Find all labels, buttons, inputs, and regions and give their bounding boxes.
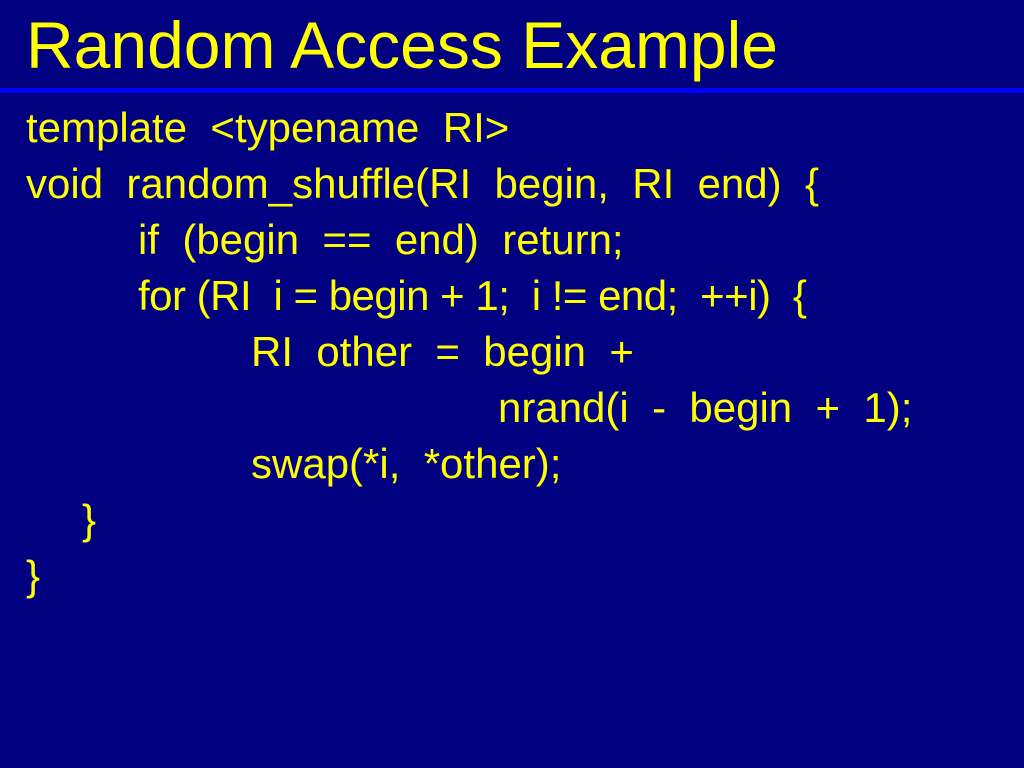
code-line: RI other = begin + (0, 324, 1024, 380)
code-line: template <typename RI> (0, 100, 1024, 156)
code-line: } (0, 548, 1024, 604)
page-title: Random Access Example (26, 6, 998, 84)
code-line: if (begin == end) return; (0, 212, 1024, 268)
code-line: for (RI i = begin + 1; i != end; ++i) { (0, 268, 1024, 324)
code-line: nrand(i - begin + 1); (0, 380, 1024, 436)
code-line: void random_shuffle(RI begin, RI end) { (0, 156, 1024, 212)
code-line: swap(*i, *other); (0, 436, 1024, 492)
title-divider (0, 88, 1024, 93)
code-block: template <typename RI> void random_shuff… (0, 100, 1024, 660)
code-line: } (0, 492, 1024, 548)
slide-canvas: Random Access Example template <typename… (0, 0, 1024, 768)
